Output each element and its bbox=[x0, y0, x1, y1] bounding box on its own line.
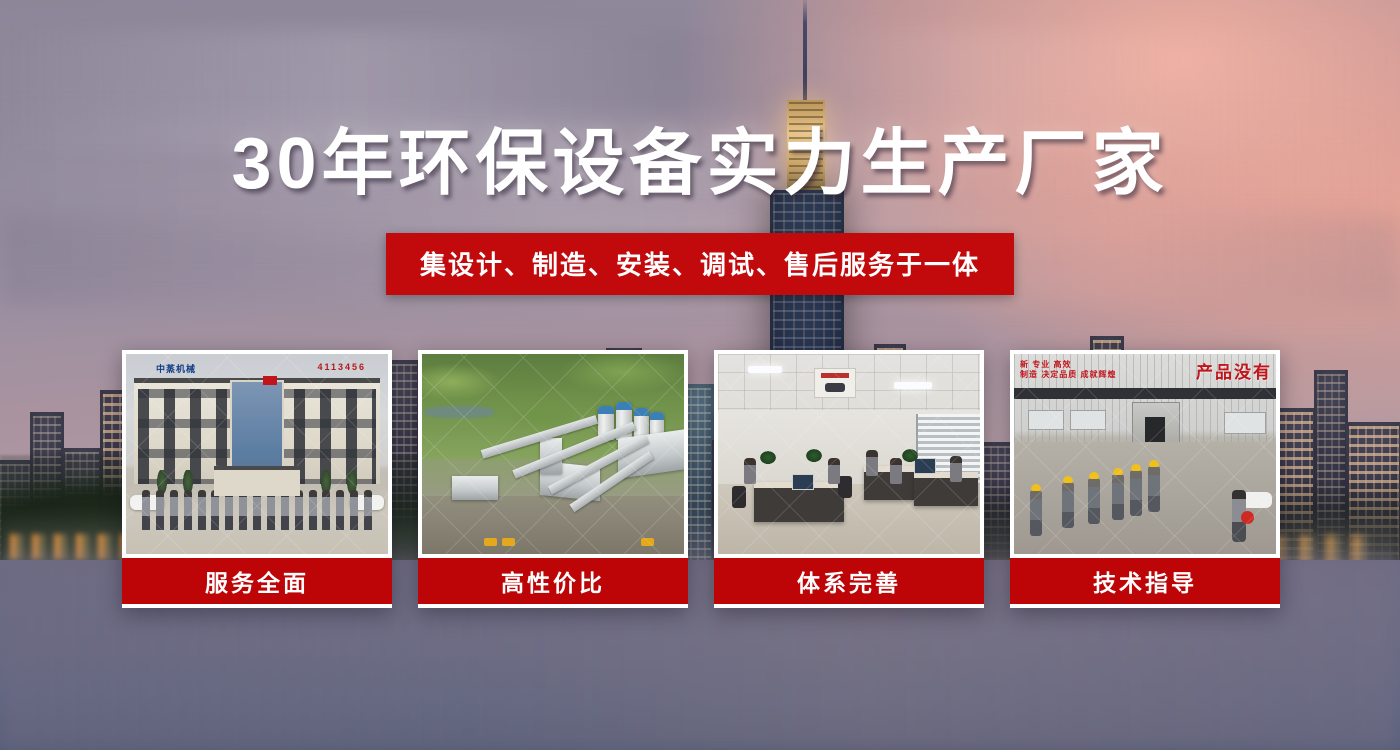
card-photo-office-building: 中蒸机械 4113456 bbox=[126, 354, 388, 554]
card-photo-office-interior bbox=[718, 354, 980, 554]
subtitle-banner: 集设计、制造、安装、调试、售后服务于一体 bbox=[386, 233, 1014, 295]
card-caption: 体系完善 bbox=[714, 558, 984, 604]
card-caption: 服务全面 bbox=[122, 558, 392, 604]
page-title: 30年环保设备实力生产厂家 bbox=[0, 128, 1400, 200]
banner-stage: 30年环保设备实力生产厂家 集设计、制造、安装、调试、售后服务于一体 中蒸机械 … bbox=[0, 0, 1400, 750]
feature-card-system[interactable]: 体系完善 bbox=[714, 350, 984, 608]
card-caption: 技术指导 bbox=[1010, 558, 1280, 604]
building-signage: 中蒸机械 bbox=[156, 362, 196, 375]
card-caption: 高性价比 bbox=[418, 558, 688, 604]
card-photo-aerial-plant bbox=[422, 354, 684, 554]
feature-card-list: 中蒸机械 4113456 服务全面 bbox=[122, 350, 1280, 608]
building-phone-number: 4113456 bbox=[317, 362, 366, 372]
feature-card-value[interactable]: 高性价比 bbox=[418, 350, 688, 608]
card-photo-workshop-briefing: 产品没有 新 专业 高效制造 决定品质 成就辉煌 bbox=[1014, 354, 1276, 554]
feature-card-service[interactable]: 中蒸机械 4113456 服务全面 bbox=[122, 350, 392, 608]
feature-card-guidance[interactable]: 产品没有 新 专业 高效制造 决定品质 成就辉煌 技术指导 bbox=[1010, 350, 1280, 608]
tower-spire bbox=[803, 0, 807, 102]
